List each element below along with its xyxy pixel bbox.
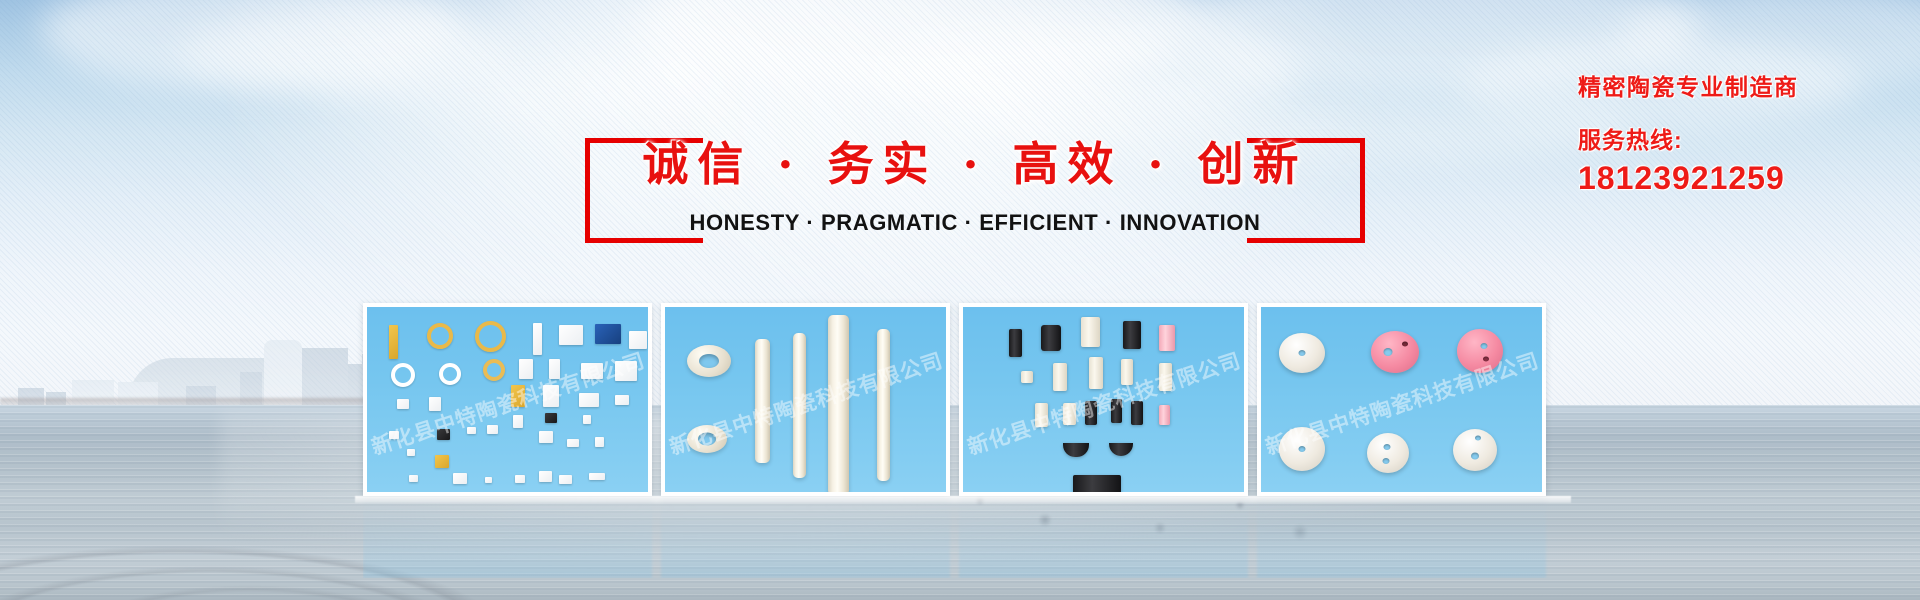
slogan-block: 诚信 · 务实 · 高效 · 创新 HONESTY · PRAGMATIC · …	[585, 138, 1365, 243]
panel-base-highlight	[355, 496, 1571, 503]
hotline-label: 服务热线:	[1578, 121, 1898, 155]
product-panel-row: 新化县中特陶瓷科技有限公司	[363, 303, 1563, 496]
panel-watermark: 新化县中特陶瓷科技有限公司	[963, 345, 1244, 462]
hero-banner: 诚信 · 务实 · 高效 · 创新 HONESTY · PRAGMATIC · …	[0, 0, 1920, 600]
contact-block: 精密陶瓷专业制造商 服务热线: 18123921259	[1578, 68, 1898, 197]
slogan-english: HONESTY · PRAGMATIC · EFFICIENT · INNOVA…	[585, 210, 1365, 236]
product-panel-chips[interactable]: 新化县中特陶瓷科技有限公司	[363, 303, 652, 496]
manufacturer-tagline: 精密陶瓷专业制造商	[1578, 68, 1898, 102]
slogan-chinese: 诚信 · 务实 · 高效 · 创新	[585, 132, 1365, 196]
product-panel-blocks[interactable]: 新化县中特陶瓷科技有限公司	[959, 303, 1248, 496]
hotline-number[interactable]: 18123921259	[1578, 160, 1898, 197]
panel-watermark: 新化县中特陶瓷科技有限公司	[367, 345, 648, 462]
product-panel-tubes[interactable]: 新化县中特陶瓷科技有限公司	[661, 303, 950, 496]
product-panel-discs[interactable]: 新化县中特陶瓷科技有限公司	[1257, 303, 1546, 496]
